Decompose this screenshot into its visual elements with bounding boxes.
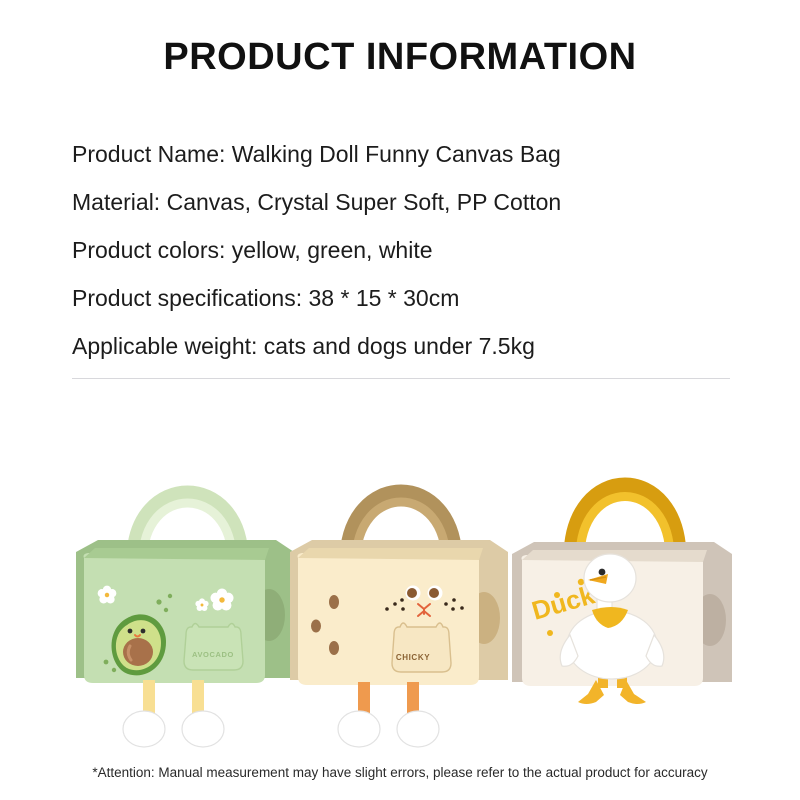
section-divider bbox=[72, 378, 730, 379]
bag-rim-chicky bbox=[298, 548, 483, 560]
spec-product-colors: Product colors: yellow, green, white bbox=[72, 226, 732, 274]
bag-rim-avocado bbox=[84, 548, 269, 560]
bag-front-pocket-avocado: AVOCADO bbox=[184, 624, 243, 671]
attention-note: *Attention: Manual measurement may have … bbox=[0, 765, 800, 780]
spec-applicable-weight: Applicable weight: cats and dogs under 7… bbox=[72, 322, 732, 370]
product-gallery: AVOCADO bbox=[0, 430, 800, 770]
product-information-page: PRODUCT INFORMATION Product Name: Walkin… bbox=[0, 0, 800, 800]
bag-legs-avocado bbox=[123, 680, 224, 747]
page-title: PRODUCT INFORMATION bbox=[0, 36, 800, 79]
bag-legs-chicky bbox=[338, 682, 439, 747]
spec-material: Material: Canvas, Crystal Super Soft, PP… bbox=[72, 178, 732, 226]
product-image-duck-bag: Duck bbox=[500, 430, 750, 770]
bag-front-pocket-chicky: CHICKY bbox=[392, 623, 451, 672]
product-image-chicky-bag: CHICKY bbox=[282, 430, 532, 770]
spec-product-specifications: Product specifications: 38 * 15 * 30cm bbox=[72, 274, 732, 322]
product-image-avocado-bag: AVOCADO bbox=[62, 430, 312, 770]
specification-list: Product Name: Walking Doll Funny Canvas … bbox=[72, 130, 732, 370]
pocket-label-chicky: CHICKY bbox=[396, 653, 430, 662]
spec-product-name: Product Name: Walking Doll Funny Canvas … bbox=[72, 130, 732, 178]
pocket-label-avocado: AVOCADO bbox=[192, 650, 234, 659]
bag-body-chicky bbox=[298, 553, 480, 685]
